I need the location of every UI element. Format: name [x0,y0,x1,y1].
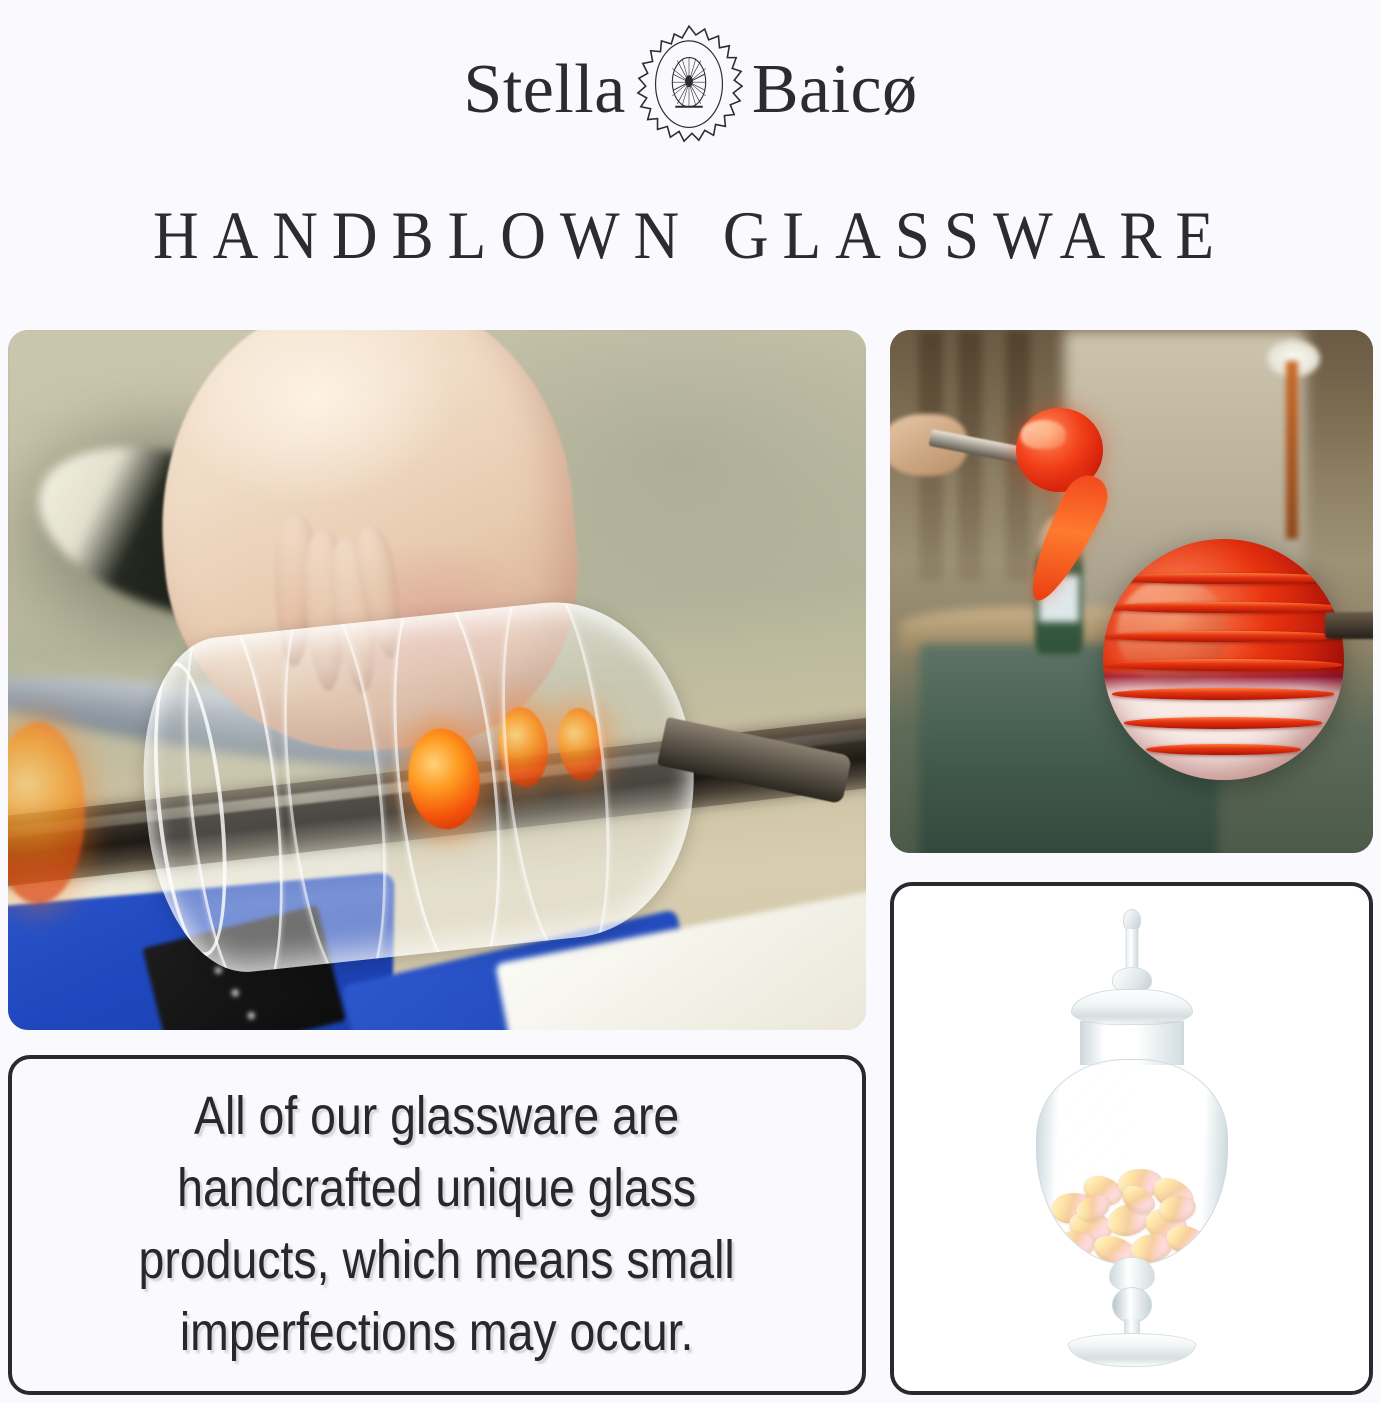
brand-name-left: Stella [463,55,625,131]
photo-glassblower [8,330,866,1030]
glass-coil [1105,659,1342,671]
promo-infographic: Stella Baicø HAN [0,0,1381,1403]
glass-coil [1103,602,1345,614]
glass-orb [1103,539,1345,780]
brand-header: Stella Baicø [0,18,1381,168]
glass-vessel [129,589,710,981]
product-stage [894,886,1369,1391]
glassblower-scene [8,330,866,1030]
punty-rod-right [1325,612,1373,638]
orb-coils [1103,539,1345,780]
sunburst-oval-emblem-icon [630,23,748,163]
photo-apothecary-jar [890,882,1373,1395]
glass-ridge [377,589,517,981]
glass-coil [1103,631,1345,643]
jar-body [1036,1059,1228,1265]
disclaimer-text: All of our glassware are handcrafted uni… [139,1081,735,1368]
molten-glass-scene [890,330,1373,853]
glass-coil [1146,744,1301,756]
orange-pole [1286,361,1298,539]
apothecary-jar [1017,909,1247,1369]
jar-stem-upper [1109,1257,1155,1291]
jar-finial [1123,909,1141,931]
jar-lid [1071,989,1193,1025]
brand-name-right: Baicø [752,55,918,131]
glass-coil [1107,573,1339,585]
glass-ridge [268,589,403,981]
jar-stem-knob [1112,1287,1152,1323]
disclaimer-card: All of our glassware are handcrafted uni… [8,1055,866,1395]
candy-fill [1044,1129,1219,1264]
glass-coil [1124,717,1322,729]
jar-foot [1068,1333,1196,1367]
glass-coil [1112,688,1334,700]
glass-ridge [486,589,626,976]
page-title: HANDBLOWN GLASSWARE [48,196,1332,275]
photo-molten-glass [890,330,1373,853]
